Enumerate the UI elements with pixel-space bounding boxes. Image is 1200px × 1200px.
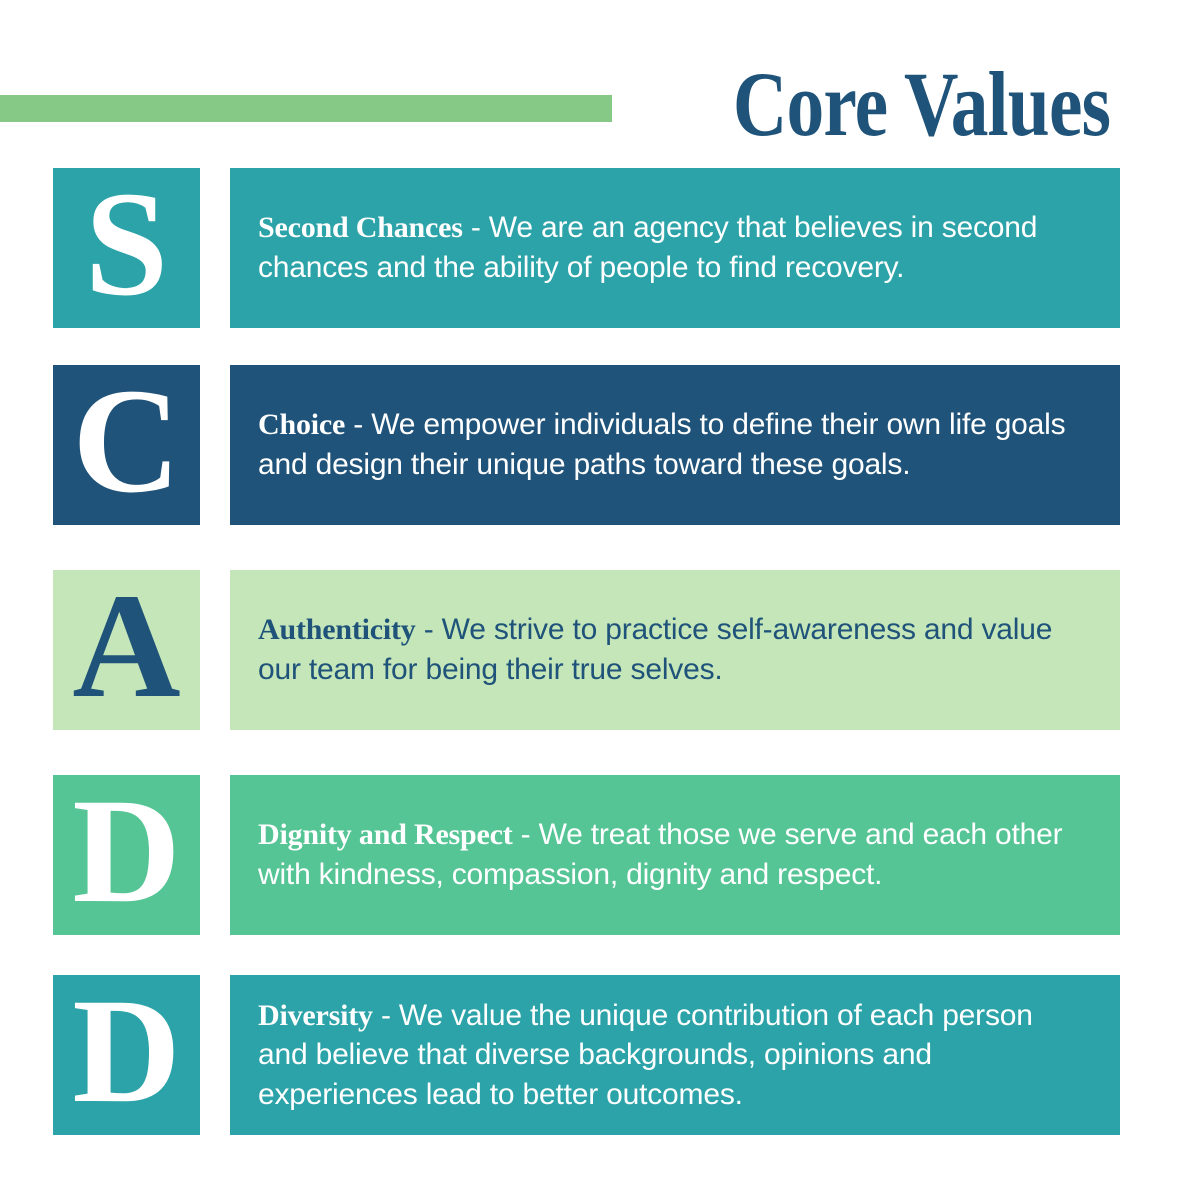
page-title: Core Values: [733, 58, 1110, 150]
value-text-bar: Second Chances - We are an agency that b…: [230, 168, 1120, 328]
letter-tile: S: [53, 168, 200, 328]
value-term: Dignity and Respect: [258, 818, 513, 851]
value-term: Choice: [258, 408, 345, 441]
core-values-infographic: Core Values S Second Chances - We are an…: [0, 0, 1200, 1200]
letter-tile: C: [53, 365, 200, 525]
value-row: C Choice - We empower individuals to def…: [53, 365, 1120, 525]
value-text-bar: Choice - We empower individuals to defin…: [230, 365, 1120, 525]
letter-tile: D: [53, 975, 200, 1135]
value-text-bar: Dignity and Respect - We treat those we …: [230, 775, 1120, 935]
value-text: Dignity and Respect - We treat those we …: [258, 815, 1090, 894]
value-text: Authenticity - We strive to practice sel…: [258, 610, 1090, 689]
letter-glyph: A: [72, 571, 180, 721]
value-term: Second Chances: [258, 211, 463, 244]
letter-glyph: D: [72, 976, 180, 1126]
letter-glyph: S: [85, 169, 168, 319]
value-separator: -: [416, 613, 442, 646]
letter-tile: A: [53, 570, 200, 730]
value-text: Choice - We empower individuals to defin…: [258, 405, 1090, 484]
letter-glyph: C: [72, 366, 180, 516]
value-row: S Second Chances - We are an agency that…: [53, 168, 1120, 328]
value-term: Authenticity: [258, 613, 416, 646]
value-text: Second Chances - We are an agency that b…: [258, 208, 1090, 287]
value-separator: -: [463, 211, 489, 244]
header-accent-bar: [0, 95, 612, 122]
value-text: Diversity - We value the unique contribu…: [258, 996, 1090, 1115]
value-text-bar: Diversity - We value the unique contribu…: [230, 975, 1120, 1135]
value-separator: -: [345, 408, 371, 441]
value-term: Diversity: [258, 999, 373, 1032]
value-separator: -: [373, 999, 399, 1032]
value-description: We empower individuals to define their o…: [258, 408, 1065, 481]
letter-glyph: D: [72, 776, 180, 926]
value-text-bar: Authenticity - We strive to practice sel…: [230, 570, 1120, 730]
value-row: D Dignity and Respect - We treat those w…: [53, 775, 1120, 935]
value-row: D Diversity - We value the unique contri…: [53, 975, 1120, 1135]
value-separator: -: [513, 818, 539, 851]
value-row: A Authenticity - We strive to practice s…: [53, 570, 1120, 730]
letter-tile: D: [53, 775, 200, 935]
